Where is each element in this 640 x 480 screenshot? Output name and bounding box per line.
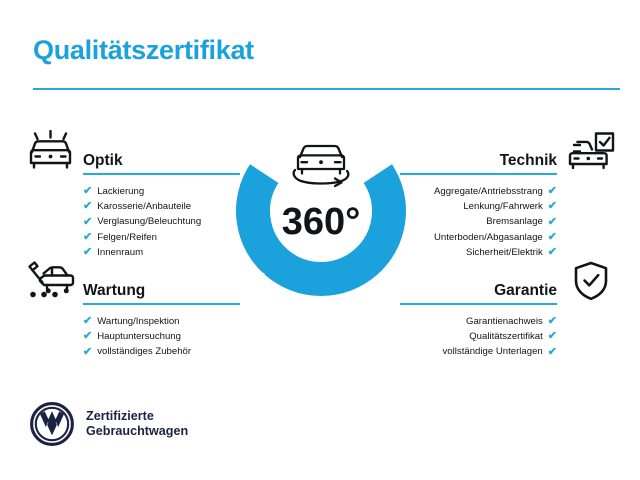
list-item: ✔Karosserie/Anbauteile [83,199,240,214]
list-item: Sicherheit/Elektrik✔ [400,245,557,260]
checklist-garantie: Garantienachweis✔ Qualitätszertifikat✔ v… [400,314,557,360]
list-item: Aggregate/Antriebsstrang✔ [400,184,557,199]
check-icon: ✔ [548,331,557,342]
section-divider [400,173,557,175]
footer-line-2: Gebrauchtwagen [86,424,188,440]
footer-text: Zertifizierte Gebrauchtwagen [86,409,188,440]
car-rotate-icon [294,146,349,186]
check-icon: ✔ [83,232,92,243]
list-item: ✔Innenraum [83,245,240,260]
list-item-label: Felgen/Reifen [97,230,157,245]
section-header: Wartung [25,260,240,302]
360-gebrauchtwagen-check-badge: Gebrauchtwagen-Check 360° [228,118,414,304]
section-garantie: Garantie Garantienachweis✔ Qualitätszert… [400,260,615,360]
footer-branding: Zertifizierte Gebrauchtwagen [30,402,188,446]
list-item: Qualitätszertifikat✔ [400,329,557,344]
check-icon: ✔ [83,347,92,358]
title-divider [33,88,620,90]
list-item-label: Hauptuntersuchung [97,329,181,344]
list-item-label: Karosserie/Anbauteile [97,199,191,214]
check-icon: ✔ [83,247,92,258]
check-icon: ✔ [548,316,557,327]
volkswagen-logo [30,402,74,446]
check-icon: ✔ [548,232,557,243]
list-item: Lenkung/Fahrwerk✔ [400,199,557,214]
list-item-label: Garantienachweis [466,314,543,329]
list-item-label: Unterboden/Abgasanlage [434,230,543,245]
section-divider [83,173,240,175]
check-icon: ✔ [548,217,557,228]
section-wartung: Wartung ✔Wartung/Inspektion ✔Hauptunters… [25,260,240,360]
check-icon: ✔ [548,201,557,212]
shield-check-icon [565,260,615,302]
check-icon: ✔ [548,347,557,358]
check-icon: ✔ [83,316,92,327]
list-item: Bremsanlage✔ [400,214,557,229]
section-divider [400,303,557,305]
list-item: Unterboden/Abgasanlage✔ [400,230,557,245]
list-item: ✔Verglasung/Beleuchtung [83,214,240,229]
list-item-label: Wartung/Inspektion [97,314,179,329]
list-item-label: Bremsanlage [486,214,543,229]
list-item-label: vollständige Unterlagen [443,344,543,359]
badge-center-label: 360° [282,201,361,243]
section-title: Wartung [83,282,145,300]
check-icon: ✔ [83,217,92,228]
list-item: Garantienachweis✔ [400,314,557,329]
list-item-label: Lenkung/Fahrwerk [463,199,542,214]
section-title: Garantie [494,282,557,300]
car-service-lift-icon [25,260,75,302]
footer-line-1: Zertifizierte [86,409,188,425]
list-item-label: Sicherheit/Elektrik [466,245,543,260]
section-title: Optik [83,152,123,170]
car-shine-icon [25,130,75,172]
checklist-technik: Aggregate/Antriebsstrang✔ Lenkung/Fahrwe… [400,184,557,260]
section-header: Technik [400,130,615,172]
list-item-label: Lackierung [97,184,144,199]
check-icon: ✔ [548,247,557,258]
list-item: ✔vollständiges Zubehör [83,344,240,359]
page-title: Qualitätszertifikat [33,35,254,66]
list-item-label: vollständiges Zubehör [97,344,191,359]
section-technik: Technik Aggregate/Antriebsstrang✔ Lenkun… [400,130,615,260]
list-item: ✔Lackierung [83,184,240,199]
section-divider [83,303,240,305]
car-checkbox-icon [565,130,615,172]
check-icon: ✔ [83,186,92,197]
checklist-optik: ✔Lackierung ✔Karosserie/Anbauteile ✔Verg… [83,184,240,260]
section-title: Technik [500,152,557,170]
check-icon: ✔ [548,186,557,197]
list-item-label: Verglasung/Beleuchtung [97,214,201,229]
section-header: Optik [25,130,240,172]
list-item-label: Innenraum [97,245,143,260]
section-header: Garantie [400,260,615,302]
section-optik: Optik ✔Lackierung ✔Karosserie/Anbauteile… [25,130,240,260]
check-icon: ✔ [83,201,92,212]
list-item-label: Qualitätszertifikat [469,329,543,344]
list-item: ✔Wartung/Inspektion [83,314,240,329]
quality-certificate-page: Qualitätszertifikat [0,0,640,480]
list-item: vollständige Unterlagen✔ [400,344,557,359]
list-item: ✔Hauptuntersuchung [83,329,240,344]
list-item: ✔Felgen/Reifen [83,230,240,245]
checklist-wartung: ✔Wartung/Inspektion ✔Hauptuntersuchung ✔… [83,314,240,360]
check-icon: ✔ [83,331,92,342]
list-item-label: Aggregate/Antriebsstrang [434,184,543,199]
